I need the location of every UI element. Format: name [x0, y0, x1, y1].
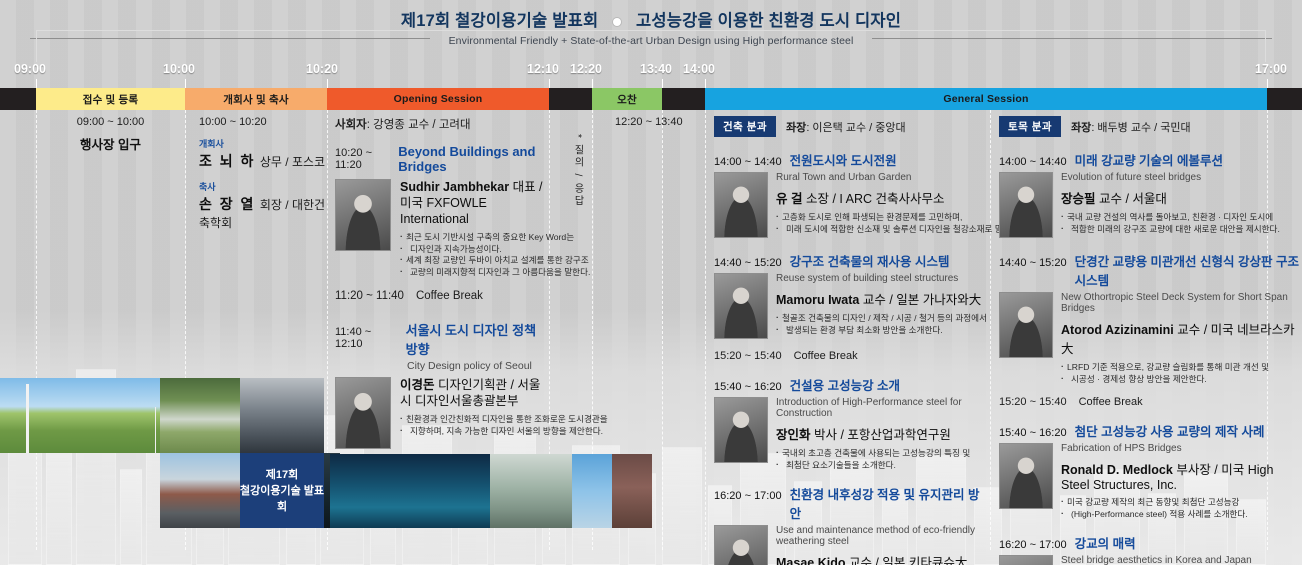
civil-session-2-bullets: LRFD 기준 적용으로, 강교량 슬림화를 통해 미관 개선 및 시공성 · … [1061, 362, 1302, 385]
civil-session-3[interactable]: 15:40 ~ 16:20 첨단 고성능강 사용 교량의 제작 사례 Fabri… [999, 421, 1302, 520]
civil-session-3-title-en: Fabrication of HPS Bridges [1061, 443, 1302, 454]
opening-moderator: 사회자: 강영종 교수 / 고려대 [335, 116, 549, 132]
title-main-left: 제17회 철강이용기술 발표회 [401, 12, 599, 30]
civil-session-3-speaker: Ronald D. Medlock 부사장 / 미국 High Steel St… [1061, 459, 1302, 492]
qa-vertical-note: * 질의 / 응답 [558, 116, 584, 226]
arch-session-2-title: 강구조 건축물의 재사용 시스템 [790, 251, 950, 270]
bullet-item-cont: (High-Performance steel) 적용 사례를 소개한다. [1061, 509, 1302, 521]
bullet-item-cont: 최첨단 요소기술들을 소개한다. [776, 460, 990, 472]
photo-village [160, 378, 240, 453]
photo-brown-tower [612, 454, 652, 528]
bar-general-session[interactable]: General Session [705, 88, 1267, 110]
arch-coffee-time: 15:20 ~ 15:40 [714, 350, 782, 362]
arch-session-2-bullets: 철골조 건축물의 디자인 / 제작 / 시공 / 철거 등의 과정에서 발생되는… [776, 313, 990, 336]
civil-session-3-title: 첨단 고성능강 사용 교량의 제작 사례 [1075, 421, 1265, 440]
arch-session-1-title: 전원도시와 도시전원 [790, 150, 897, 169]
opening-session-1-speaker: Sudhir Jambhekar 대표 / 미국 FXFOWLE Interna… [400, 179, 549, 227]
arch-coffee-label: Coffee Break [794, 350, 858, 362]
chair-architecture: 좌장: 이은택 교수 / 중앙대 [786, 119, 906, 135]
speaker-photo [714, 525, 768, 565]
arch-session-3-speaker: 장인화 박사 / 포항산업과학연구원 [776, 424, 990, 443]
arch-session-2-speaker: Mamoru Iwata 교수 / 일본 가나자와大 [776, 289, 990, 308]
bar-lunch[interactable]: 오찬 [592, 88, 662, 110]
ceremony-tag-opening: 개회사 [199, 137, 327, 150]
opening-session-2-bullets: 친환경과 인간친화적 디자인을 통한 조화로운 도시경관을 지향하며, 지속 가… [400, 414, 549, 437]
arch-session-4-speaker-role: 교수 / 일본 키타큐슈大 [849, 556, 967, 565]
arch-session-1-time: 14:00 ~ 14:40 [714, 156, 782, 168]
column-general-civil: 토목 분과 좌장: 배두병 교수 / 국민대 14:00 ~ 14:40 미래 … [990, 110, 1302, 565]
civil-session-4-time: 16:20 ~ 17:00 [999, 539, 1067, 551]
speaker-photo [714, 397, 768, 463]
photo-bicycles [240, 378, 324, 453]
time-tick-1020: 10:20 [306, 62, 338, 76]
arch-session-3-speaker-name: 장인화 [776, 428, 811, 442]
bullet-item-cont: 적합한 미래의 강구조 교량에 대한 새로운 대안을 제시한다. [1061, 224, 1302, 236]
opening-session-1-time: 10:20 ~ 11:20 [335, 147, 388, 171]
opening-moderator-value: : 강영종 교수 / 고려대 [367, 119, 471, 131]
civil-session-2-time: 14:40 ~ 15:20 [999, 257, 1067, 269]
opening-session-2-time: 11:40 ~ 12:10 [335, 326, 396, 350]
badge-line-2: 철강이용기술 발표회 [240, 483, 324, 515]
speaker-photo [714, 172, 768, 238]
bullet-item-cont: 미래 도시에 적합한 신소재 및 솔루션 디자인을 철강소재로 말한다. [776, 224, 990, 236]
arch-session-3-time: 15:40 ~ 16:20 [714, 381, 782, 393]
civil-session-1-speaker: 장승필 교수 / 서울대 [1061, 188, 1302, 207]
bullet-item: 미국 강교량 제작의 최근 동향및 최첨단 고성능강 [1061, 497, 1302, 509]
civil-coffee-time: 15:20 ~ 15:40 [999, 396, 1067, 408]
civil-session-1-bullets: 국내 교량 건설의 역사를 돌아보고, 친환경 · 디자인 도시에 적합한 미래… [1061, 212, 1302, 235]
arch-session-4-speaker: Masae Kido 교수 / 일본 키타큐슈大 [776, 552, 990, 565]
opening-session-1-speaker-name: Sudhir Jambhekar [400, 180, 509, 194]
arch-session-4-title-en: Use and maintenance method of eco-friend… [776, 525, 990, 547]
badge-line-1: 제17회 [240, 467, 324, 483]
arch-coffee-break: 15:20 ~ 15:40Coffee Break [714, 350, 990, 362]
chair-value: : 이은택 교수 / 중앙대 [806, 122, 905, 134]
column-general-architecture: 건축 분과 좌장: 이은택 교수 / 중앙대 14:00 ~ 14:40 전원도… [705, 110, 990, 565]
arch-session-1-speaker: 유 걸 소장 / I ARC 건축사사무소 [776, 188, 990, 207]
arch-session-3-bullets: 국내외 초고층 건축물에 사용되는 고성능강의 특징 및 최첨단 요소기술들을 … [776, 448, 990, 471]
opening-session-2-title-en: City Design policy of Seoul [407, 360, 549, 372]
ceremony-speaker-0-role: 상무 / 포스코 [260, 155, 325, 169]
bullet-item: 세계 최장 교량인 두바이 아치교 설계를 통한 강구조 [400, 255, 549, 267]
civil-coffee-label: Coffee Break [1079, 396, 1143, 408]
chair-value: : 배두병 교수 / 국민대 [1091, 122, 1190, 134]
lunch-time: 12:20 ~ 13:40 [615, 116, 683, 128]
timeline-bars: 접수 및 등록 개회사 및 축사 Opening Session 오찬 Gene… [0, 88, 1302, 110]
time-tick-1340: 13:40 [640, 62, 672, 76]
chair-label: 좌장 [786, 122, 806, 134]
civil-session-1-speaker-name: 장승필 [1061, 192, 1096, 206]
ceremony-time: 10:00 ~ 10:20 [199, 116, 327, 128]
opening-session-2-speaker-name: 이경돈 [400, 378, 435, 392]
bullet-dot-icon [613, 18, 621, 26]
arch-session-4-time: 16:20 ~ 17:00 [714, 490, 782, 502]
chair-label: 좌장 [1071, 122, 1091, 134]
civil-session-3-time: 15:40 ~ 16:20 [999, 427, 1067, 439]
photo-glass-tower [572, 454, 612, 528]
civil-session-3-bullets: 미국 강교량 제작의 최근 동향및 최첨단 고성능강 (High-Perform… [1061, 497, 1302, 520]
bullet-item-cont: 디자인과 지속가능성이다. [400, 244, 549, 256]
civil-session-1[interactable]: 14:00 ~ 14:40 미래 강교량 기술의 에볼루션 Evolution … [999, 150, 1302, 238]
arch-session-2-speaker-name: Mamoru Iwata [776, 293, 859, 307]
opening-session-2-speaker: 이경돈 디자인기획관 / 서울시 디자인서울총괄본부 [400, 377, 549, 409]
arch-session-1-bullets: 고층화 도시로 인해 파생되는 환경문제를 고민하며, 미래 도시에 적합한 신… [776, 212, 990, 235]
bullet-item: 고층화 도시로 인해 파생되는 환경문제를 고민하며, [776, 212, 990, 224]
track-chip-civil: 토목 분과 [999, 116, 1061, 137]
page-title: 제17회 철강이용기술 발표회 고성능강을 이용한 친환경 도시 디자인 [0, 10, 1302, 32]
chair-civil: 좌장: 배두병 교수 / 국민대 [1071, 119, 1191, 135]
arch-session-3-title: 건설용 고성능강 소개 [790, 375, 900, 394]
bullet-item-cont: 교량의 미래지향적 디자인과 그 아름다움을 말한다. [400, 267, 549, 279]
civil-session-3-speaker-name: Ronald D. Medlock [1061, 463, 1173, 477]
civil-session-2[interactable]: 14:40 ~ 15:20 단경간 교량용 미관개선 신형식 강상판 구조시스템… [999, 251, 1302, 385]
arch-session-4[interactable]: 16:20 ~ 17:00 친환경 내후성강 적용 및 유지관리 방안 Use … [714, 484, 990, 565]
photo-street-cyclists [160, 453, 240, 528]
civil-session-1-title-en: Evolution of future steel bridges [1061, 172, 1302, 183]
timeline-bracket [36, 30, 1266, 62]
speaker-photo [999, 292, 1053, 358]
speaker-photo [714, 273, 768, 339]
speaker-photo [999, 443, 1053, 509]
arch-session-3[interactable]: 15:40 ~ 16:20 건설용 고성능강 소개 Introduction o… [714, 375, 990, 471]
arch-session-2-speaker-role: 교수 / 일본 가나자와大 [863, 293, 981, 307]
opening-session-1-title: Beyond Buildings and Bridges [398, 144, 549, 174]
opening-session-2[interactable]: 11:40 ~ 12:10 서울시 도시 디자인 정책 방향 City Desi… [335, 320, 549, 449]
civil-session-1-title: 미래 강교량 기술의 에볼루션 [1075, 150, 1223, 169]
bullet-item-cont: 시공성 · 경제성 향상 방안을 제안한다. [1061, 374, 1302, 386]
ceremony-speaker-0: 조 뇌 하 상무 / 포스코 [199, 151, 327, 171]
photo-event-badge: 제17회 철강이용기술 발표회 [240, 453, 324, 528]
photo-dubai-bridge [330, 454, 490, 528]
arch-session-2[interactable]: 14:40 ~ 15:20 강구조 건축물의 재사용 시스템 Reuse sys… [714, 251, 990, 339]
ceremony-speaker-1-name: 손 장 열 [199, 196, 255, 212]
arch-session-4-title: 친환경 내후성강 적용 및 유지관리 방안 [790, 484, 990, 522]
bullet-item: LRFD 기준 적용으로, 강교량 슬림화를 통해 미관 개선 및 [1061, 362, 1302, 374]
arch-session-3-speaker-role: 박사 / 포항산업과학연구원 [814, 428, 951, 442]
photo-wind-farm [0, 378, 160, 453]
time-tick-1220: 12:20 [570, 62, 602, 76]
arch-session-1-speaker-role: 소장 / I ARC 건축사사무소 [806, 192, 945, 206]
arch-session-2-title-en: Reuse system of building steel structure… [776, 273, 990, 284]
bullet-item: 최근 도시 기반시설 구축의 중요한 Key Word는 [400, 232, 549, 244]
opening-session-1[interactable]: 10:20 ~ 11:20 Beyond Buildings and Bridg… [335, 144, 549, 278]
time-tick-1210: 12:10 [527, 62, 559, 76]
opening-coffee-break: 11:20 ~ 11:40Coffee Break [335, 290, 549, 302]
civil-session-2-speaker-name: Atorod Azizinamini [1061, 323, 1174, 337]
track-chip-architecture: 건축 분과 [714, 116, 776, 137]
arch-session-3-title-en: Introduction of High-Performance steel f… [776, 397, 990, 419]
photo-arch-structure [490, 454, 572, 528]
speaker-photo [335, 377, 391, 449]
bullet-item: 철골조 건축물의 디자인 / 제작 / 시공 / 철거 등의 과정에서 [776, 313, 990, 325]
ceremony-speaker-1: 손 장 열 회장 / 대한건축학회 [199, 194, 327, 232]
speaker-photo [335, 179, 391, 251]
speaker-photo [999, 172, 1053, 238]
registration-place: 행사장 입구 [36, 134, 185, 153]
bullet-item-cont: 발생되는 환경 부담 최소화 방안을 소개한다. [776, 325, 990, 337]
bar-ceremony[interactable]: 개회사 및 축사 [185, 88, 327, 110]
time-tick-1000: 10:00 [163, 62, 195, 76]
civil-session-1-speaker-role: 교수 / 서울대 [1099, 192, 1167, 206]
ceremony-speaker-0-name: 조 뇌 하 [199, 153, 255, 169]
civil-session-4-title-en: Steel bridge aesthetics in Korea and Jap… [1061, 555, 1302, 565]
arch-session-1[interactable]: 14:00 ~ 14:40 전원도시와 도시전원 Rural Town and … [714, 150, 990, 238]
registration-time: 09:00 ~ 10:00 [36, 116, 185, 128]
civil-session-4[interactable]: 16:20 ~ 17:00 강교의 매력 Steel bridge aesthe… [999, 533, 1302, 565]
opening-session-1-bullets: 최근 도시 기반시설 구축의 중요한 Key Word는 디자인과 지속가능성이… [400, 232, 549, 278]
civil-session-4-title: 강교의 매력 [1075, 533, 1136, 552]
opening-session-1-speaker-org: 미국 FXFOWLE International [400, 196, 487, 226]
conference-program-poster: 제17회 철강이용기술 발표회 고성능강을 이용한 친환경 도시 디자인 Env… [0, 0, 1302, 565]
opening-session-2-title: 서울시 도시 디자인 정책 방향 [406, 320, 549, 358]
bullet-item: 국내외 초고층 건축물에 사용되는 고성능강의 특징 및 [776, 448, 990, 460]
arch-session-2-time: 14:40 ~ 15:20 [714, 257, 782, 269]
opening-coffee-time: 11:20 ~ 11:40 [335, 290, 404, 302]
opening-session-1-speaker-role: 대표 / [513, 180, 543, 194]
opening-coffee-label: Coffee Break [416, 290, 483, 302]
arch-session-1-speaker-name: 유 걸 [776, 192, 802, 206]
bullet-item: 국내 교량 건설의 역사를 돌아보고, 친환경 · 디자인 도시에 [1061, 212, 1302, 224]
opening-moderator-label: 사회자 [335, 119, 367, 131]
title-main-right: 고성능강을 이용한 친환경 도시 디자인 [636, 12, 901, 30]
bar-opening-session[interactable]: Opening Session [327, 88, 549, 110]
speaker-photo [999, 555, 1053, 565]
time-tick-0900: 09:00 [14, 62, 46, 76]
time-tick-1400: 14:00 [683, 62, 715, 76]
ceremony-tag-congrats: 축사 [199, 180, 327, 193]
arch-session-4-speaker-name: Masae Kido [776, 556, 845, 565]
civil-session-1-time: 14:00 ~ 14:40 [999, 156, 1067, 168]
bullet-item: 친환경과 인간친화적 디자인을 통한 조화로운 도시경관을 [400, 414, 549, 426]
arch-session-1-title-en: Rural Town and Urban Garden [776, 172, 990, 183]
civil-session-2-title: 단경간 교량용 미관개선 신형식 강상판 구조시스템 [1075, 251, 1302, 289]
civil-session-2-title-en: New Othortropic Steel Deck System for Sh… [1061, 292, 1302, 314]
time-tick-1700: 17:00 [1255, 62, 1287, 76]
bar-registration[interactable]: 접수 및 등록 [36, 88, 185, 110]
civil-coffee-break: 15:20 ~ 15:40Coffee Break [999, 396, 1302, 408]
bullet-item-cont: 지향하며, 지속 가능한 디자인 서울의 방향을 제안한다. [400, 426, 549, 438]
civil-session-2-speaker: Atorod Azizinamini 교수 / 미국 네브라스카大 [1061, 319, 1302, 357]
